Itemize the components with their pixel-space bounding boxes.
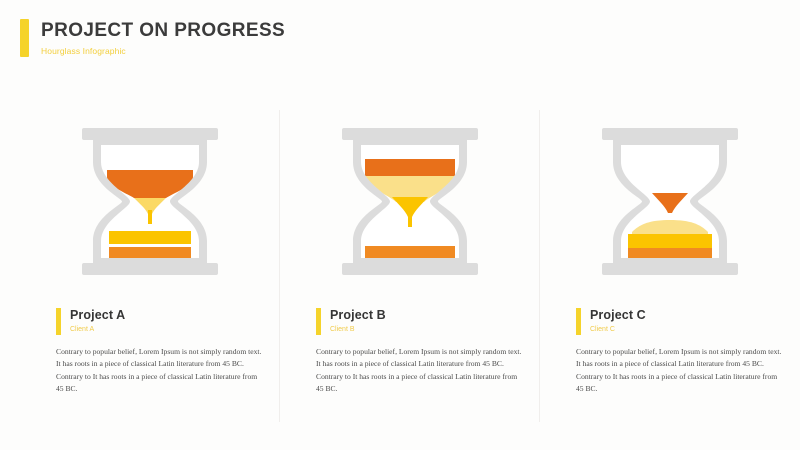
project-b-head-text: Project B Client B	[330, 308, 386, 335]
project-column-c: Project C Client C Contrary to popular b…	[540, 100, 800, 430]
project-a-head-text: Project A Client A	[70, 308, 125, 335]
project-card-b-head: Project B Client B	[316, 308, 531, 335]
project-a-accent-bar	[56, 308, 61, 335]
project-column-b: Project B Client B Contrary to popular b…	[280, 100, 540, 430]
project-a-body: Contrary to popular belief, Lorem Ipsum …	[56, 346, 266, 396]
project-b-client: Client B	[330, 325, 386, 335]
project-c-head-text: Project C Client C	[590, 308, 646, 335]
header-accent-bar	[20, 19, 29, 57]
hourglass-b	[320, 114, 500, 289]
project-column-a: Project A Client A Contrary to popular b…	[20, 100, 280, 430]
project-card-a: Project A Client A Contrary to popular b…	[56, 308, 271, 396]
project-a-client: Client A	[70, 325, 125, 335]
project-b-body: Contrary to popular belief, Lorem Ipsum …	[316, 346, 526, 396]
project-card-c-head: Project C Client C	[576, 308, 791, 335]
hourglass-a	[60, 114, 240, 289]
page-header: PROJECT ON PROGRESS Hourglass Infographi…	[20, 19, 285, 57]
project-c-accent-bar	[576, 308, 581, 335]
hourglass-c	[580, 114, 760, 289]
project-a-title: Project A	[70, 308, 125, 323]
project-c-client: Client C	[590, 325, 646, 335]
project-card-c: Project C Client C Contrary to popular b…	[576, 308, 791, 396]
project-c-title: Project C	[590, 308, 646, 323]
project-card-b: Project B Client B Contrary to popular b…	[316, 308, 531, 396]
project-b-title: Project B	[330, 308, 386, 323]
page-title: PROJECT ON PROGRESS	[41, 20, 285, 42]
project-c-body: Contrary to popular belief, Lorem Ipsum …	[576, 346, 786, 396]
project-card-a-head: Project A Client A	[56, 308, 271, 335]
page-subtitle: Hourglass Infographic	[41, 45, 285, 57]
project-b-accent-bar	[316, 308, 321, 335]
header-text-group: PROJECT ON PROGRESS Hourglass Infographi…	[41, 19, 285, 57]
projects-container: Project A Client A Contrary to popular b…	[0, 100, 800, 430]
